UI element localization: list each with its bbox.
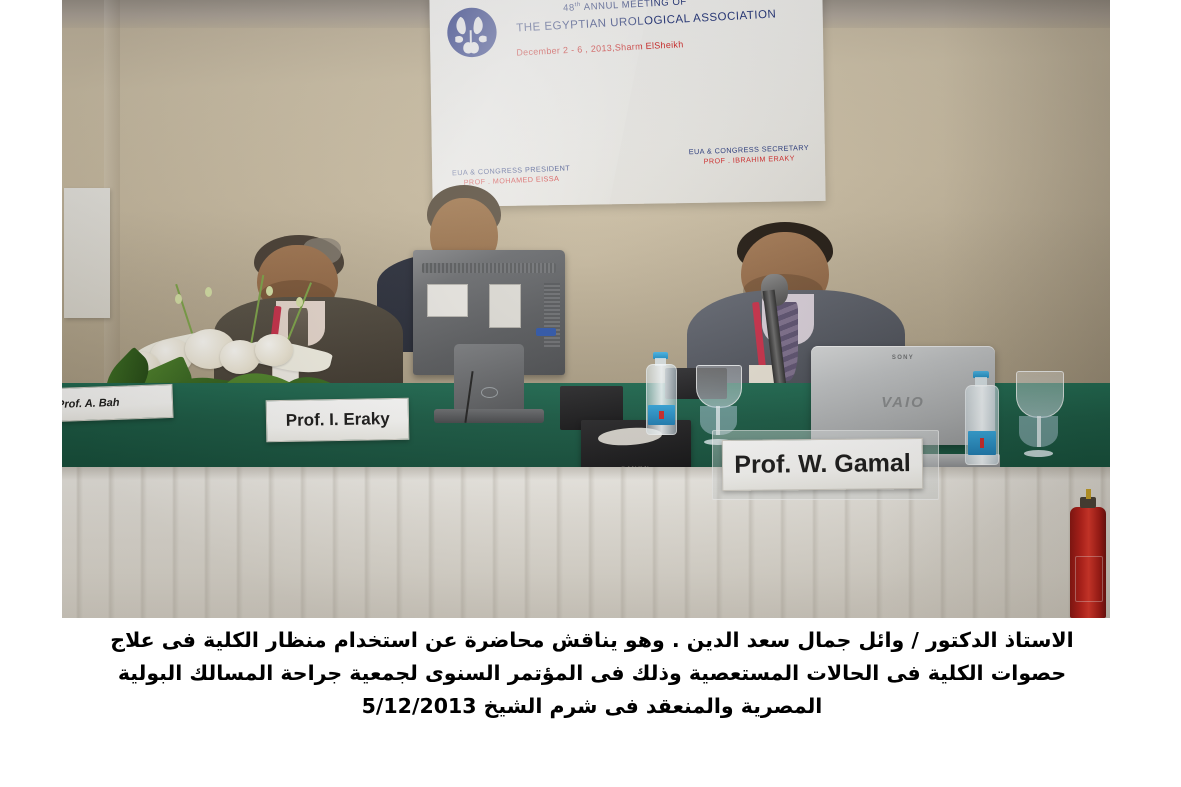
monitor-label — [427, 284, 469, 317]
vaio-logo-label: VAIO — [881, 394, 925, 411]
water-bottle-left — [644, 352, 678, 432]
banner-secretary-block: EUA & CONGRESS SECRETARY PROF . IBRAHIM … — [688, 143, 809, 168]
monitor-vent — [422, 263, 556, 273]
bottle-label — [968, 431, 997, 455]
monitor-base — [434, 409, 543, 423]
nameplate-left-partial: Prof. A. Bah — [62, 384, 173, 422]
eua-logo-icon — [443, 3, 500, 60]
bottle-label — [648, 405, 675, 425]
banner-date-location: December 2 - 6 , 2013,Sharm ElSheikh — [516, 39, 684, 57]
bottle-body — [965, 385, 998, 466]
sony-brand-label: SONY — [892, 355, 914, 361]
glass-stem — [1037, 416, 1041, 447]
nameplate-gamal: Prof. W. Gamal — [722, 438, 924, 492]
wall-shadow-right — [942, 0, 1110, 383]
table-skirt — [62, 467, 1110, 618]
conference-photograph: 48th ANNUL MEETING OF THE EGYPTIAN UROLO… — [62, 0, 1110, 618]
extinguisher-label — [1075, 556, 1103, 602]
caption-line-2: حصوات الكلية فى الحالات المستعصية وذلك ف… — [62, 657, 1122, 690]
flower-bud — [175, 294, 182, 304]
nameplate-eraky: Prof. I. Eraky — [266, 397, 410, 442]
fire-extinguisher — [1070, 507, 1106, 618]
bottle-label-mark — [980, 438, 985, 447]
flower-bud — [296, 297, 303, 307]
white-rose — [255, 334, 293, 366]
monitor-stand-neck — [454, 344, 524, 413]
lg-logo-icon — [481, 387, 498, 398]
side-whiteboard — [64, 188, 110, 318]
glass-bowl — [696, 365, 742, 409]
extinguisher-pin — [1086, 489, 1091, 499]
flower-bud — [266, 286, 273, 296]
monitor-vent-side — [544, 283, 561, 348]
white-rose — [220, 340, 260, 374]
caption-line-1: الاستاذ الدكتور / وائل جمال سعد الدين . … — [62, 624, 1122, 657]
banner-title-block: 48th ANNUL MEETING OF THE EGYPTIAN UROLO… — [515, 0, 815, 37]
bottle-body — [646, 364, 678, 434]
conference-banner: 48th ANNUL MEETING OF THE EGYPTIAN UROLO… — [429, 0, 825, 207]
water-bottle-right — [963, 371, 999, 464]
caption-line-3: المصرية والمنعقد فى شرم الشيخ 5/12/2013 — [62, 690, 1122, 723]
glass-bowl — [1016, 371, 1064, 418]
vga-connector — [536, 328, 556, 337]
glass-foot — [1024, 450, 1054, 457]
arabic-caption: الاستاذ الدكتور / وائل جمال سعد الدين . … — [62, 624, 1122, 724]
lg-monitor-rear — [413, 250, 565, 423]
orchid-stalk — [286, 282, 312, 342]
flower-bud — [205, 287, 212, 297]
bottle-label-mark — [659, 411, 663, 419]
wine-glass-right — [1016, 371, 1062, 458]
monitor-spec-sticker — [489, 284, 521, 328]
page-root: 48th ANNUL MEETING OF THE EGYPTIAN UROLO… — [0, 0, 1181, 787]
